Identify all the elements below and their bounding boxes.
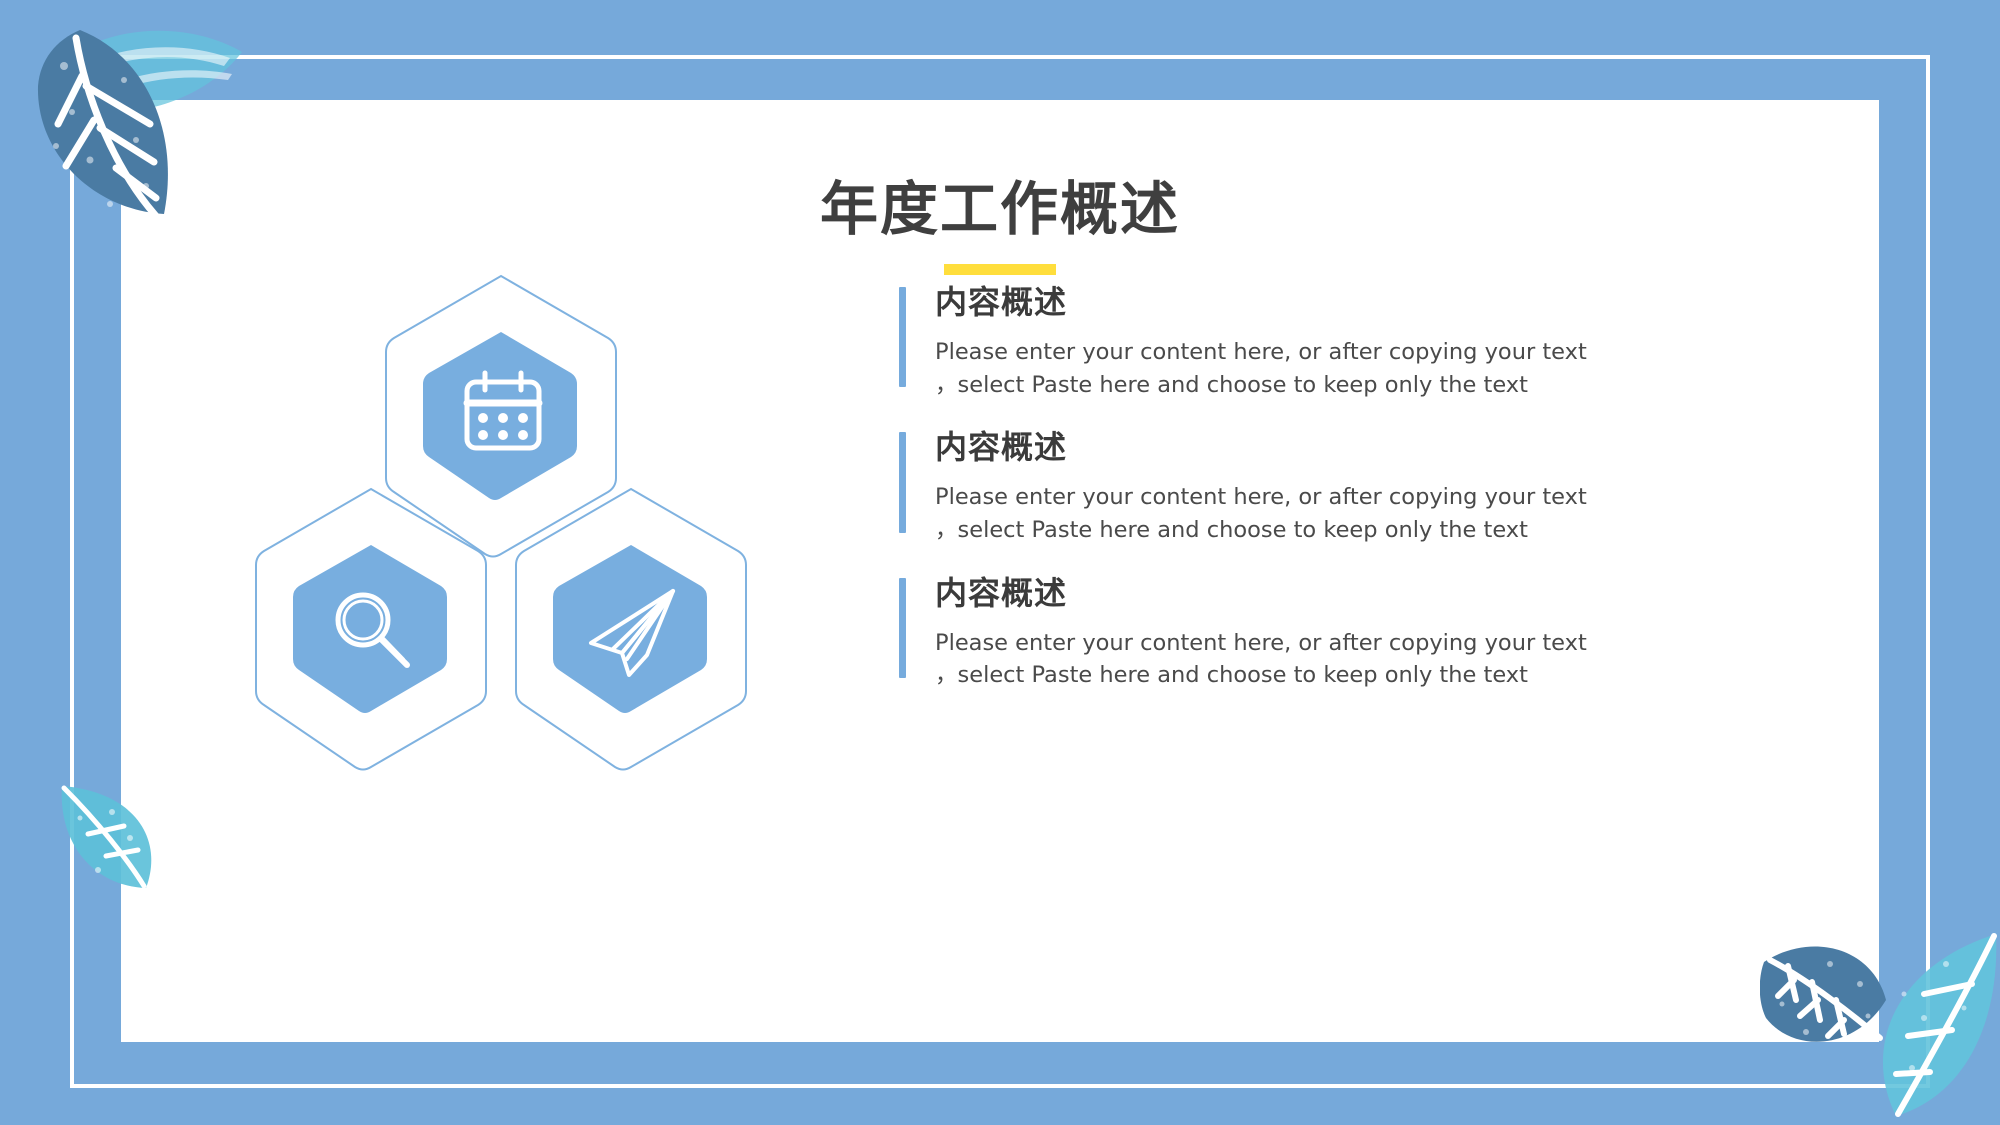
hexagon-item-send[interactable] (501, 483, 761, 773)
content-block: 内容概述 Please enter your content here, or … (899, 573, 1799, 692)
accent-bar (899, 578, 906, 678)
hexagon-fill (293, 545, 447, 713)
content-block-body: Please enter your content here, or after… (935, 481, 1615, 546)
content-block: 内容概述 Please enter your content here, or … (899, 427, 1799, 546)
content-card: 年度工作概述 (121, 100, 1879, 1042)
page-title-group: 年度工作概述 (121, 180, 1879, 275)
hexagon-icon-cluster (211, 270, 791, 870)
accent-bar (899, 432, 906, 532)
content-block-heading: 内容概述 (935, 573, 1799, 613)
content-block-heading: 内容概述 (935, 427, 1799, 467)
content-block-body: Please enter your content here, or after… (935, 336, 1615, 401)
content-block: 内容概述 Please enter your content here, or … (899, 282, 1799, 401)
leaf-decoration-bottom-right-teal (1868, 928, 2000, 1118)
hexagon-fill (553, 545, 707, 713)
accent-bar (899, 287, 906, 387)
slide-canvas: 年度工作概述 (0, 0, 2000, 1125)
title-underline (944, 264, 1056, 275)
page-title: 年度工作概述 (121, 180, 1879, 238)
content-block-heading: 内容概述 (935, 282, 1799, 322)
hexagon-item-search[interactable] (241, 483, 501, 773)
content-block-list: 内容概述 Please enter your content here, or … (899, 282, 1799, 692)
content-block-body: Please enter your content here, or after… (935, 627, 1615, 692)
